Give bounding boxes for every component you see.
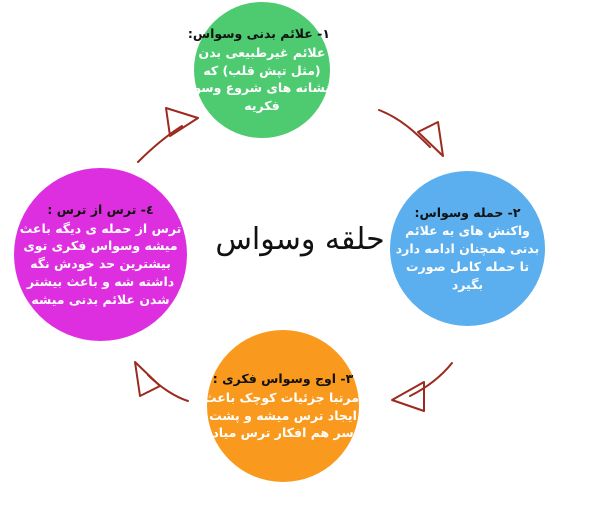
- node-blue-line-2: بدنی همچنان ادامه دارد: [390, 240, 545, 258]
- node-green-heading: ۱- علائم بدنی وسواس:: [194, 25, 330, 43]
- node-orange-line-1: مرتبا جزئیات کوچک باعث: [207, 389, 359, 407]
- node-green-line-1: علائم غیرطبیعی بدن: [194, 44, 330, 62]
- diagram-center-title: حلقه وسواس: [195, 222, 405, 257]
- node-blue-line-4: بگیرد: [390, 276, 545, 294]
- node-physical-symptoms[interactable]: ۱- علائم بدنی وسواس: علائم غیرطبیعی بدن …: [194, 2, 330, 138]
- node-orange-line-2: ایجاد ترس میشه و پشت: [207, 407, 359, 425]
- arrow-green-to-blue: [379, 110, 443, 156]
- node-magenta-heading: ٤- ترس از ترس :: [14, 201, 187, 219]
- node-magenta-line-3: بیشترین حد خودش نگه: [14, 255, 187, 273]
- arrow-orange-to-magenta: [135, 362, 188, 401]
- arrow-magenta-to-green: [138, 108, 198, 162]
- node-obsession-attack[interactable]: ۲- حمله وسواس: واکنش های به علائم بدنی ه…: [390, 171, 545, 326]
- node-magenta-line-1: ترس از حمله ی دیگه باعث: [14, 220, 187, 238]
- arrow-blue-to-orange: [392, 363, 452, 411]
- node-fear-of-fear[interactable]: ٤- ترس از ترس : ترس از حمله ی دیگه باعث …: [14, 168, 187, 341]
- node-green-line-2: (مثل تپش قلب) که: [194, 62, 330, 80]
- node-blue-heading: ۲- حمله وسواس:: [390, 204, 545, 222]
- node-blue-line-3: تا حمله کامل صورت: [390, 258, 545, 276]
- node-peak-mental-obsession[interactable]: ۳- اوج وسواس فکری : مرتبا جزئیات کوچک با…: [207, 330, 359, 482]
- node-orange-heading: ۳- اوج وسواس فکری :: [207, 370, 359, 388]
- node-blue-line-1: واکنش های به علائم: [390, 222, 545, 240]
- node-green-line-4: فکریه: [194, 97, 330, 115]
- node-magenta-line-2: میشه وسواس فکری توی: [14, 237, 187, 255]
- node-magenta-line-4: داشته شه و باعث بیشتر: [14, 273, 187, 291]
- node-magenta-line-5: شدن علائم بدنی میشه: [14, 291, 187, 309]
- node-green-line-3: نشانه های شروع وسواس: [194, 79, 330, 97]
- node-orange-line-3: سر هم افکار ترس میاد: [207, 424, 359, 442]
- obsession-cycle-diagram: ۱- علائم بدنی وسواس: علائم غیرطبیعی بدن …: [0, 0, 600, 506]
